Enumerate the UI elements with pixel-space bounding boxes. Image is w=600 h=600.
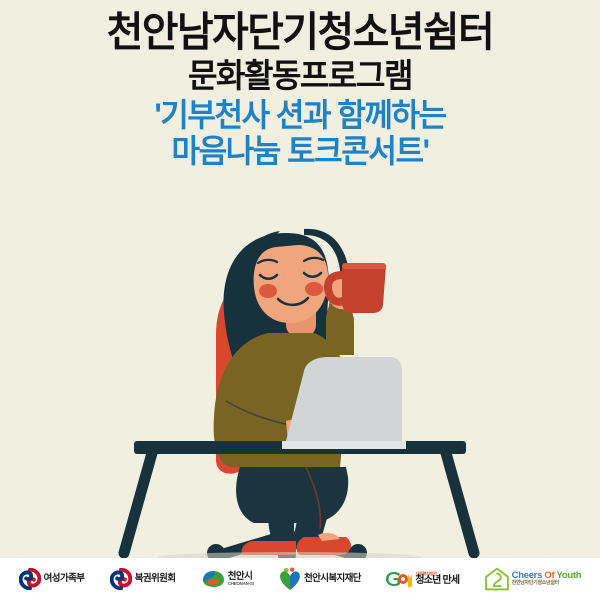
desk-leg-right [446,453,474,553]
desk-leg-left [124,453,152,553]
logo-welfare-name: 천안시복지재단 [304,574,361,584]
logo-lottery-commission: 복권위원회 [110,568,176,590]
title-line-program: 문화활동프로그램 [9,59,591,92]
logo-cheers-of-youth: Cheers Of Youth 천안남자단기청소년쉼터 [485,567,582,591]
logo-lottery-text: 복권위원회 [135,574,176,584]
cheek-right [305,282,323,296]
title-line-event-1: '기부천사 션과 함께하는 [9,99,591,131]
title-line-organization: 천안남자단기청소년쉼터 [9,12,591,53]
taegeuk-icon [19,568,41,590]
mug-body [342,265,386,313]
poster-title-block: 천안남자단기청소년쉼터 문화활동프로그램 '기부천사 션과 함께하는 마음나눔 … [0,0,600,167]
coy-icon [386,570,412,588]
logo-mogef-text: 여성가족부 [44,574,85,584]
house-icon [485,567,509,591]
logo-cheers-sub: 천안남자단기청소년쉼터 [512,581,582,586]
logo-cheonan-city: 천안시 CHEONAN-SI [201,569,254,589]
title-line-event-2: 마음나눔 토크콘서트' [9,135,591,167]
logo-coy-name: 청소년 만세 [415,576,459,587]
illustration-woman-with-laptop [90,205,510,560]
cheek-left [259,284,277,298]
logo-cheonan-welfare-foundation: 천안시복지재단 [279,567,361,591]
cheers-word-3: Youth [557,570,582,581]
heart-leaf-icon [279,567,301,591]
poster-canvas: 천안남자단기청소년쉼터 문화활동프로그램 '기부천사 션과 함께하는 마음나눔 … [0,0,600,600]
logo-mogef-name: 여성가족부 [44,574,85,584]
laptop-keyboard-base [282,441,406,449]
logo-lottery-name: 복권위원회 [135,574,176,584]
taegeuk-icon [110,568,132,590]
logo-welfare-text: 천안시복지재단 [304,574,361,584]
logo-coy-cheongsonyeon-manse: 사회복지법인 청소년 만세 [386,570,459,588]
logo-cheers-text: Cheers Of Youth 천안남자단기청소년쉼터 [512,571,582,586]
logo-cheonan-text: 천안시 CHEONAN-SI [228,572,254,587]
mug-rim [342,263,386,269]
cheonan-icon [201,569,225,589]
footer-logo-strip: 여성가족부 복권위원회 천안시 CHEONAN-SI [0,558,600,600]
logo-mogef: 여성가족부 [19,568,85,590]
logo-cheonan-sub: CHEONAN-SI [228,582,254,587]
logo-coy-text: 사회복지법인 청소년 만세 [415,572,459,587]
